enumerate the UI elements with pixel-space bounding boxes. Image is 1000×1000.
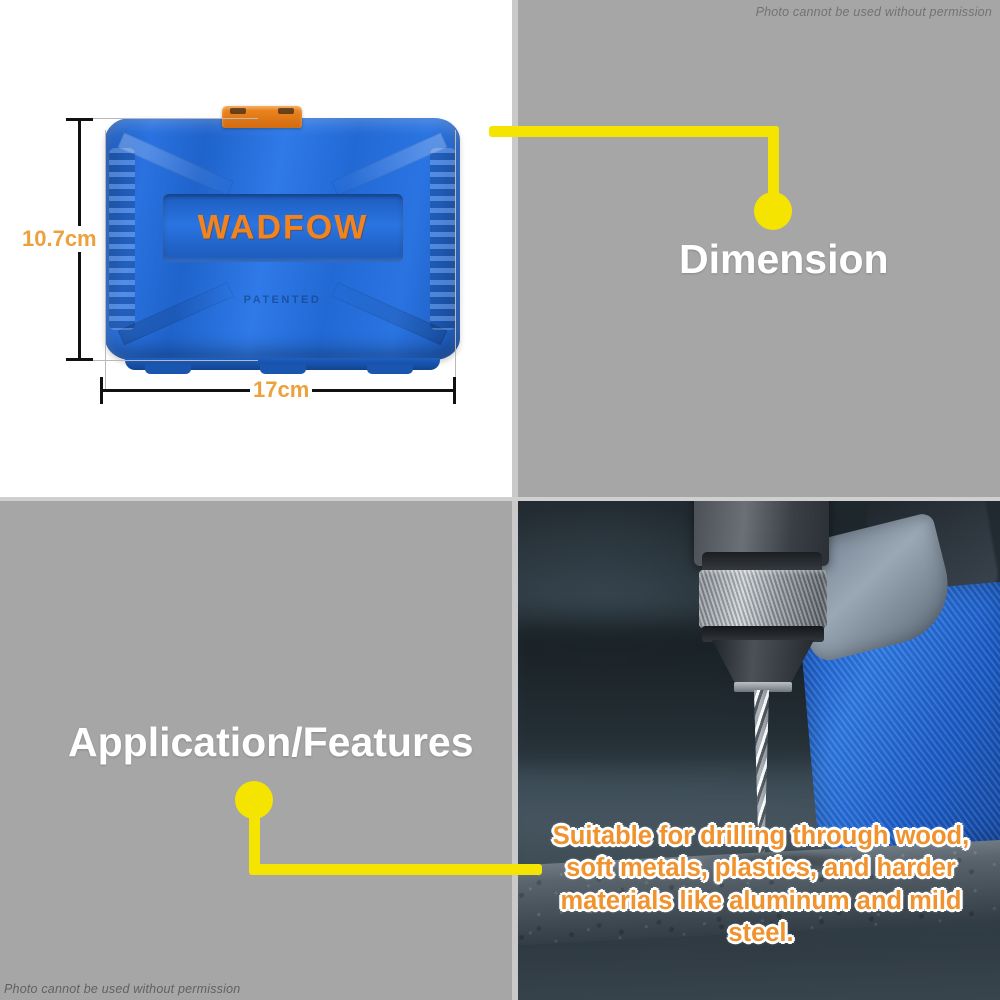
height-dimension-cap-bottom bbox=[66, 358, 93, 361]
application-callout-line-horizontal bbox=[249, 864, 542, 875]
application-heading: Application/Features bbox=[68, 719, 474, 766]
watermark-top-right: Photo cannot be used without permission bbox=[756, 5, 992, 19]
watermark-bottom-left: Photo cannot be used without permission bbox=[4, 982, 240, 996]
width-dimension-cap-left bbox=[100, 377, 103, 404]
application-caption: Suitable for drilling through wood, soft… bbox=[532, 820, 990, 950]
case-foot-center bbox=[260, 364, 306, 374]
patented-text: PATENTED bbox=[105, 294, 460, 306]
chuck-knurled-sleeve bbox=[699, 570, 827, 628]
chuck-lower-ring bbox=[702, 626, 824, 642]
brand-logo-text: WADFOW bbox=[163, 209, 403, 248]
drilling-photo: Suitable for drilling through wood, soft… bbox=[516, 500, 1000, 1000]
case-handle bbox=[222, 106, 302, 128]
case-facet-bottom-left bbox=[118, 282, 234, 345]
height-dimension-cap-top bbox=[66, 118, 93, 121]
witness-line-top bbox=[78, 118, 258, 119]
witness-line-right bbox=[455, 130, 456, 392]
case-foot-left bbox=[145, 364, 191, 374]
product-infographic: Suitable for drilling through wood, soft… bbox=[0, 0, 1000, 1000]
dimension-callout-line-horizontal bbox=[489, 126, 779, 137]
width-dimension-cap-right bbox=[453, 377, 456, 404]
case-body: WADFOW PATENTED bbox=[105, 118, 460, 360]
application-photo-panel: Suitable for drilling through wood, soft… bbox=[516, 500, 1000, 1000]
dimension-heading: Dimension bbox=[679, 236, 889, 283]
panel-divider-horizontal bbox=[0, 497, 1000, 501]
dimension-callout-pin-dot-icon bbox=[754, 192, 792, 230]
height-measurement-label: 10.7cm bbox=[19, 226, 100, 252]
case-facet-top-left bbox=[118, 133, 234, 196]
witness-line-left bbox=[105, 130, 106, 392]
width-measurement-label: 17cm bbox=[250, 377, 312, 403]
case-label-panel: WADFOW bbox=[163, 194, 403, 262]
application-callout-pin-dot-icon bbox=[235, 781, 273, 819]
case-foot-right bbox=[367, 364, 413, 374]
product-case: WADFOW PATENTED bbox=[105, 118, 460, 360]
